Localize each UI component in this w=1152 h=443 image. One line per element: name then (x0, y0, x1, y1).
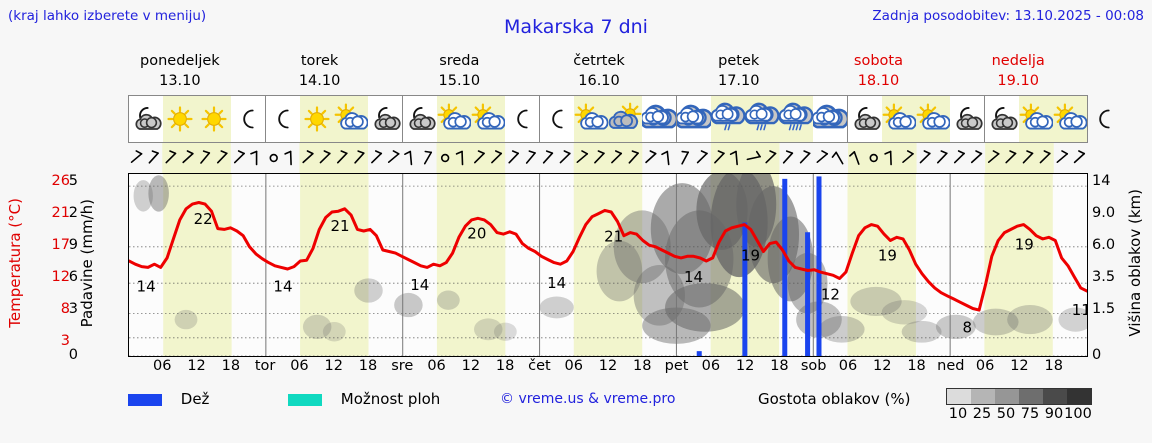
time-axis-label: 06 (564, 358, 582, 374)
icon-day-ponedeljek (129, 96, 266, 142)
weather-icon-cell (574, 96, 608, 142)
temperature-value-label: 19 (1015, 235, 1034, 253)
wind-barbs (110, 143, 1088, 173)
weather-icon-cell (608, 96, 642, 142)
temperature-value-label: 8 (962, 319, 972, 337)
weather-icon-row (128, 95, 1088, 143)
weather-icon-cell (848, 96, 882, 142)
day-name: ponedeljek (110, 51, 250, 71)
weather-icon-cell (163, 96, 197, 142)
weather-icon-cell (1053, 96, 1087, 142)
cloud-density-tick: 100 (1064, 406, 1092, 422)
day-header-petek: petek17.10 (669, 50, 809, 92)
sun-icon (197, 102, 231, 136)
cloud-density-swatch (995, 389, 1019, 404)
axis-tick: 5 (69, 173, 78, 189)
day-name: nedelja (948, 51, 1088, 71)
icon-day-petek (677, 96, 848, 142)
cloud-density-tick: 50 (997, 406, 1015, 422)
icon-day-nedelja (985, 96, 1121, 142)
legend-rain: Dež (128, 390, 209, 408)
icon-day-sobota (848, 96, 985, 142)
axis-tick: 3 (69, 301, 78, 317)
day-name: torek (250, 51, 390, 71)
weather-icon-cell (334, 96, 368, 142)
weather-icon-cell (985, 96, 1019, 142)
weather-icon-cell (1087, 96, 1121, 142)
temperature-value-label: 12 (821, 285, 840, 303)
sun-cloud-icon (574, 102, 608, 136)
weather-icon-cell (745, 96, 779, 142)
time-axis-label: 06 (702, 358, 720, 374)
legend-showers-label: Možnost ploh (341, 390, 441, 408)
wind-barb-row (110, 143, 1088, 173)
time-axis-label: 18 (907, 358, 925, 374)
moon-cloud-icon (129, 102, 163, 136)
time-axis-label: 06 (839, 358, 857, 374)
cloud-height-axis-title: Višina oblakov (km) (1126, 168, 1144, 358)
time-axis-label: pet (665, 358, 689, 374)
sun-icon (163, 102, 197, 136)
day-date: 19.10 (948, 71, 1088, 91)
time-axis-label: sob (801, 358, 827, 374)
temperature-value-label: 14 (684, 268, 703, 286)
moon-cloud-icon (403, 102, 437, 136)
time-axis-label: ned (937, 358, 964, 374)
cloud-density-tick: 25 (973, 406, 991, 422)
cloud-density-legend-title: Gostota oblakov (%) (758, 390, 911, 408)
axis-tick: 2 (69, 205, 78, 221)
sun-cloud-icon (916, 102, 950, 136)
cloud-density-tick: 90 (1045, 406, 1063, 422)
day-date: 14.10 (250, 71, 390, 91)
day-date: 16.10 (529, 71, 669, 91)
time-axis-label: 12 (599, 358, 617, 374)
showers-swatch (288, 394, 322, 406)
weather-icon-cell (950, 96, 984, 142)
moon-cloud-icon (950, 102, 984, 136)
moon-cloud-icon (985, 102, 1019, 136)
axis-tick: 6 (69, 269, 78, 285)
precipitation-bar (816, 176, 821, 356)
temperature-value-label: 14 (547, 274, 566, 292)
sun-cloud-icon (334, 102, 368, 136)
rain-swatch (128, 394, 162, 406)
weather-icon-cell (231, 96, 265, 142)
sun-cloud-icon (471, 102, 505, 136)
time-axis-label: tor (255, 358, 276, 374)
cloud-rain-light-icon (711, 102, 745, 136)
temperature-value-label: 22 (194, 210, 213, 228)
cloud-rain-heavy-icon (779, 102, 813, 136)
cloud-density-swatch (1043, 389, 1067, 404)
temperature-value-label: 11 (1072, 301, 1087, 319)
weather-icon-cell (779, 96, 813, 142)
axis-tick: 1.5 (1092, 301, 1115, 317)
temperature-axis-title: Temperatura (°C) (6, 168, 24, 358)
sun-cloud-grey-icon (608, 102, 642, 136)
cloud-density-swatch (947, 389, 971, 404)
time-axis-label: 18 (770, 358, 788, 374)
axis-tick: 0 (69, 347, 78, 363)
cloud-icon (677, 102, 711, 136)
weather-icon-cell (129, 96, 163, 142)
sun-cloud-icon (882, 102, 916, 136)
weather-icon-cell (711, 96, 745, 142)
temperature-value-label: 19 (741, 246, 760, 264)
cloud-icon (642, 102, 676, 136)
precipitation-axis-title-text: Padavine (mm/h) (78, 199, 96, 327)
moon-icon (231, 102, 265, 136)
axis-tick: 14 (1092, 173, 1110, 189)
weather-icon-cell (300, 96, 334, 142)
chart-legend: Dež Možnost ploh © vreme.us & vreme.pro … (128, 386, 1138, 426)
weather-icon-cell (882, 96, 916, 142)
time-axis-label: 18 (1044, 358, 1062, 374)
weather-icon-cell (540, 96, 574, 142)
time-axis-label: čet (528, 358, 551, 374)
forecast-plot: 14221421142014211419121981911 (128, 173, 1088, 357)
weather-icon-cell (266, 96, 300, 142)
precipitation-bar (697, 351, 702, 356)
day-date: 15.10 (389, 71, 529, 91)
last-updated-label: Zadnja posodobitev: 13.10.2025 - 00:08 (872, 8, 1144, 24)
time-axis-label: 12 (1010, 358, 1028, 374)
moon-icon (540, 102, 574, 136)
moon-cloud-icon (368, 102, 402, 136)
weather-icon-cell (368, 96, 402, 142)
cloud-density-scale (946, 388, 1092, 405)
moon-icon (1087, 102, 1121, 136)
day-header-nedelja: nedelja19.10 (948, 50, 1088, 92)
cloud-height-axis-ticks: 149.06.03.51.50 (1092, 165, 1128, 361)
cloud-density-swatch (971, 389, 995, 404)
day-date: 18.10 (809, 71, 949, 91)
moon-cloud-icon (848, 102, 882, 136)
axis-tick: 3.5 (1092, 269, 1115, 285)
precipitation-bar (805, 232, 810, 356)
day-date: 17.10 (669, 71, 809, 91)
time-axis-label: 18 (496, 358, 514, 374)
day-date: 13.10 (110, 71, 250, 91)
moon-icon (505, 102, 539, 136)
weather-icon-cell (505, 96, 539, 142)
time-axis-label: 06 (153, 358, 171, 374)
precipitation-bar (742, 223, 747, 356)
moon-icon (266, 102, 300, 136)
time-axis-label: 06 (427, 358, 445, 374)
weather-icon-cell (813, 96, 847, 142)
temperature-value-label: 14 (273, 277, 292, 295)
time-axis-label: 18 (359, 358, 377, 374)
time-axis-label: 18 (633, 358, 651, 374)
cloud-density-swatch (1019, 389, 1043, 404)
weather-icon-cell (197, 96, 231, 142)
cloud-height-axis-title-text: Višina oblakov (km) (1126, 189, 1144, 337)
day-header-ponedeljek: ponedeljek13.10 (110, 50, 250, 92)
time-axis-label: 12 (736, 358, 754, 374)
day-name: sobota (809, 51, 949, 71)
weather-icon-cell (677, 96, 711, 142)
time-axis-labels: 061218tor061218sre061218čet061218pet0612… (110, 358, 1110, 380)
weather-icon-cell (403, 96, 437, 142)
cloud-density-tick: 10 (949, 406, 967, 422)
temperature-value-label: 14 (137, 277, 156, 295)
axis-tick: 9.0 (1092, 205, 1115, 221)
sun-icon (300, 102, 334, 136)
day-name: petek (669, 51, 809, 71)
legend-rain-label: Dež (181, 390, 210, 408)
temperature-value-label: 20 (467, 224, 486, 242)
icon-day-četrtek (540, 96, 677, 142)
copyright-link[interactable]: © vreme.us & vreme.pro (500, 391, 675, 407)
temperature-value-label: 21 (604, 227, 623, 245)
precipitation-axis-title: Padavine (mm/h) (78, 168, 96, 358)
weather-icon-cell (1019, 96, 1053, 142)
day-name: četrtek (529, 51, 669, 71)
temperature-value-label: 21 (330, 217, 349, 235)
cloud-density-tick: 75 (1021, 406, 1039, 422)
sun-cloud-icon (437, 102, 471, 136)
day-header-četrtek: četrtek16.10 (529, 50, 669, 92)
temperature-value-label: 19 (878, 246, 897, 264)
temperature-value-label: 14 (410, 276, 429, 294)
sun-cloud-icon (1053, 102, 1087, 136)
weather-icon-cell (437, 96, 471, 142)
temperature-axis-title-text: Temperatura (°C) (6, 198, 24, 328)
time-axis-label: 06 (290, 358, 308, 374)
precipitation-bar (782, 179, 787, 356)
weather-icon-cell (916, 96, 950, 142)
time-axis-label: 12 (873, 358, 891, 374)
time-axis-label: 12 (324, 358, 342, 374)
axis-tick: 6.0 (1092, 237, 1115, 253)
legend-showers: Možnost ploh (288, 390, 440, 408)
time-axis-label: 12 (187, 358, 205, 374)
cloud-rain-icon (745, 102, 779, 136)
day-name: sreda (389, 51, 529, 71)
sun-cloud-icon (1019, 102, 1053, 136)
axis-tick: 9 (69, 237, 78, 253)
cloud-icon (813, 102, 847, 136)
weather-icon-cell (642, 96, 676, 142)
precipitation-axis-ticks: 529630 (56, 165, 78, 361)
day-header-torek: torek14.10 (250, 50, 390, 92)
time-axis-label: 06 (976, 358, 994, 374)
time-axis-label: 12 (462, 358, 480, 374)
cloud-density-swatch (1067, 389, 1091, 404)
icon-day-torek (266, 96, 403, 142)
day-header-row: ponedeljek13.10torek14.10sreda15.10četrt… (110, 50, 1088, 92)
day-header-sobota: sobota18.10 (809, 50, 949, 92)
icon-day-sreda (403, 96, 540, 142)
time-axis-label: sre (391, 358, 413, 374)
day-header-sreda: sreda15.10 (389, 50, 529, 92)
weather-icon-cell (471, 96, 505, 142)
time-axis-label: 18 (222, 358, 240, 374)
